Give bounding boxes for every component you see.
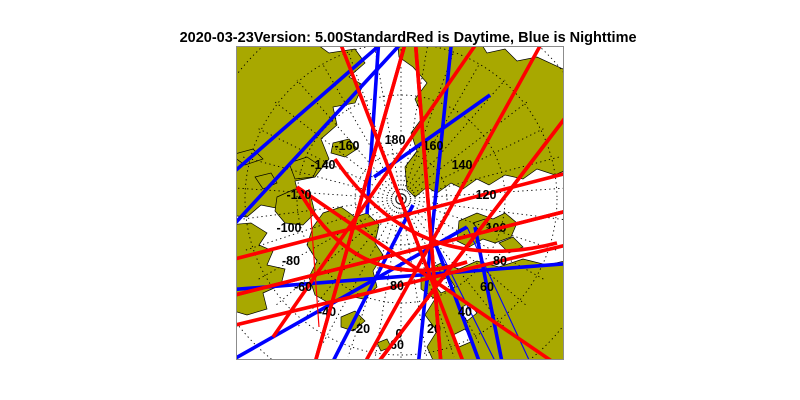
lon-label: 40 (458, 305, 472, 319)
lon-label: -20 (352, 322, 370, 336)
title-legend: Red is Daytime, Blue is Nighttime (406, 30, 636, 46)
lon-label: -60 (294, 280, 312, 294)
title-date: 2020-03-23 (180, 30, 254, 46)
title-mode: Standard (343, 30, 406, 46)
lon-label: -140 (310, 158, 335, 172)
figure-root: 2020-03-23Version: 5.00StandardRed is Da… (0, 0, 800, 400)
lon-label: 120 (476, 188, 497, 202)
lon-label: 140 (452, 158, 473, 172)
polar-map-svg: -160 180 160 -140 140 -120 120 -100 100 … (237, 47, 563, 359)
lon-label: 80 (493, 254, 507, 268)
lat-label: 80 (390, 279, 404, 293)
lon-label: 60 (480, 280, 494, 294)
title-version: Version: 5.00 (254, 30, 343, 46)
polar-map-panel: -160 180 160 -140 140 -120 120 -100 100 … (236, 46, 564, 360)
lon-label: -160 (334, 139, 359, 153)
lon-label: -100 (276, 221, 301, 235)
lon-label: -80 (282, 254, 300, 268)
lon-label: 180 (385, 133, 406, 147)
